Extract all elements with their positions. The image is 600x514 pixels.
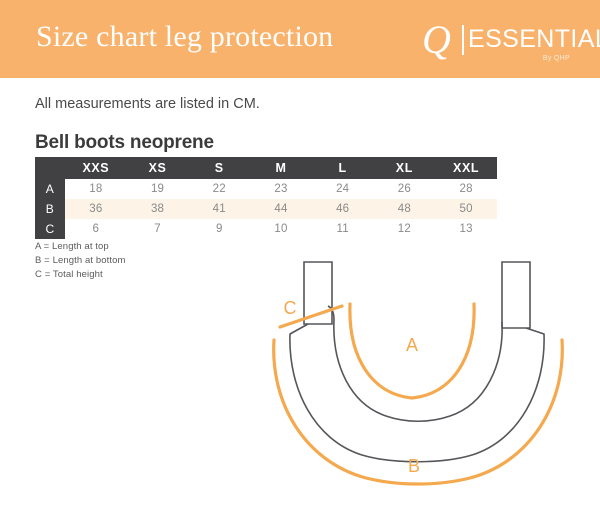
logo-divider (462, 25, 464, 55)
cell-c-s: 9 (188, 219, 250, 239)
cell-c-m: 10 (250, 219, 312, 239)
cell-b-s: 41 (188, 199, 250, 219)
row-label-c: C (35, 219, 65, 239)
cell-c-xxl: 13 (435, 219, 497, 239)
diagram-label-b: B (408, 456, 420, 476)
row-label-b: B (35, 199, 65, 219)
cell-b-m: 44 (250, 199, 312, 219)
brand-logo: Q ESSENTIALS By QHP (422, 22, 572, 64)
column-header-xxs: XXS (65, 157, 127, 179)
product-title: Bell boots neoprene (35, 132, 214, 154)
cell-c-xs: 7 (127, 219, 189, 239)
logo-wordmark: ESSENTIALS (468, 26, 600, 53)
page-title: Size chart leg protection (36, 20, 333, 54)
diagram-label-a: A (406, 335, 418, 355)
legend-item: C = Total height (35, 268, 125, 282)
column-header-s: S (188, 157, 250, 179)
cell-b-xs: 38 (127, 199, 189, 219)
cell-c-xxs: 6 (65, 219, 127, 239)
legend-item: A = Length at top (35, 240, 125, 254)
cell-c-xl: 12 (374, 219, 436, 239)
cell-b-xl: 48 (374, 199, 436, 219)
cell-b-xxl: 50 (435, 199, 497, 219)
diagram-label-c: C (284, 298, 297, 318)
cell-b-l: 46 (312, 199, 374, 219)
cell-a-xs: 19 (127, 179, 189, 199)
size-table-body: A 18 19 22 23 24 26 28 B 36 38 41 44 46 … (35, 179, 497, 239)
cell-a-xxs: 18 (65, 179, 127, 199)
cell-a-l: 24 (312, 179, 374, 199)
size-table: XXS XS S M L XL XXL A 18 19 22 23 24 2 (35, 157, 497, 239)
row-label-a: A (35, 179, 65, 199)
cell-a-xl: 26 (374, 179, 436, 199)
column-header-m: M (250, 157, 312, 179)
logo-q-mark: Q (422, 20, 451, 60)
size-table-head: XXS XS S M L XL XXL (35, 157, 497, 179)
left-shoulder-edge (290, 324, 308, 334)
column-header-xxl: XXL (435, 157, 497, 179)
header-band: Size chart leg protection Q ESSENTIALS B… (0, 0, 600, 78)
legend-item: B = Length at bottom (35, 254, 125, 268)
cell-a-m: 23 (250, 179, 312, 199)
right-shoulder-edge (526, 328, 544, 334)
column-header-xs: XS (127, 157, 189, 179)
measurement-units-note: All measurements are listed in CM. (35, 96, 260, 112)
cell-a-xxl: 28 (435, 179, 497, 199)
column-header-l: L (312, 157, 374, 179)
table-row: A 18 19 22 23 24 26 28 (35, 179, 497, 199)
table-row: C 6 7 9 10 11 12 13 (35, 219, 497, 239)
cell-a-s: 22 (188, 179, 250, 199)
bell-boot-diagram: A B C (262, 248, 600, 508)
size-chart-page: Size chart leg protection Q ESSENTIALS B… (0, 0, 600, 514)
size-table-container: XXS XS S M L XL XXL A 18 19 22 23 24 2 (35, 157, 497, 239)
table-corner-cell (35, 157, 65, 179)
cell-b-xxs: 36 (65, 199, 127, 219)
size-table-header-row: XXS XS S M L XL XXL (35, 157, 497, 179)
right-strap-outline (502, 262, 530, 328)
table-row: B 36 38 41 44 46 48 50 (35, 199, 497, 219)
cell-c-l: 11 (312, 219, 374, 239)
logo-subtitle: By QHP (543, 55, 570, 62)
measurement-legend: A = Length at top B = Length at bottom C… (35, 240, 125, 282)
column-header-xl: XL (374, 157, 436, 179)
